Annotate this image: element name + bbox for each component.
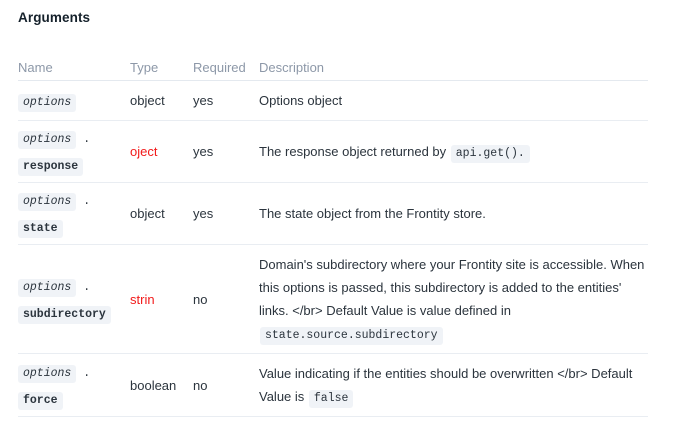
table-row: optionsobjectyesOptions object: [18, 81, 648, 121]
cell-type: object: [130, 90, 193, 111]
required-value: yes: [193, 206, 213, 221]
cell-description: Options object: [259, 81, 648, 120]
code-chip-param-base: options: [18, 279, 76, 297]
cell-name: options .subdirectory: [18, 269, 130, 330]
code-chip-param-property: state: [18, 220, 63, 238]
required-value: yes: [193, 144, 213, 159]
code-chip-inline: api.get().: [451, 145, 530, 163]
description-text: The state object from the Frontity store…: [259, 194, 648, 233]
param-dot-separator: .: [76, 281, 90, 294]
code-chip-param-base: options: [18, 131, 76, 149]
cell-name: options .state: [18, 183, 130, 244]
cell-type: strin: [130, 289, 193, 310]
cell-description: Value indicating if the entities should …: [259, 354, 648, 416]
type-value-error: oject: [130, 144, 157, 159]
cell-type: object: [130, 203, 193, 224]
required-value: no: [193, 378, 207, 393]
param-dot-separator: .: [76, 133, 90, 146]
arguments-table: Name Type Required Description optionsob…: [18, 55, 648, 417]
column-header-required: Required: [193, 60, 259, 75]
cell-required: no: [193, 375, 259, 396]
required-value: yes: [193, 93, 213, 108]
type-value: boolean: [130, 378, 176, 393]
cell-description: The response object returned by api.get(…: [259, 132, 648, 171]
arguments-panel: Arguments Name Type Required Description…: [0, 0, 690, 434]
param-dot-separator: .: [76, 195, 90, 208]
code-chip-param-base: options: [18, 94, 76, 112]
column-header-description: Description: [259, 60, 648, 75]
table-row: options .subdirectorystrinnoDomain's sub…: [18, 245, 648, 354]
table-row: options .stateobjectyesThe state object …: [18, 183, 648, 245]
description-text: Options object: [259, 81, 648, 120]
cell-name: options: [18, 84, 130, 118]
table-body: optionsobjectyesOptions objectoptions .r…: [18, 81, 648, 417]
code-chip-param-property: subdirectory: [18, 306, 111, 324]
column-header-name: Name: [18, 60, 130, 75]
description-text: The response object returned by api.get(…: [259, 132, 648, 171]
cell-name: options .force: [18, 355, 130, 416]
cell-required: yes: [193, 90, 259, 111]
description-text: Value indicating if the entities should …: [259, 354, 648, 416]
page-title: Arguments: [18, 10, 90, 25]
cell-description: Domain's subdirectory where your Frontit…: [259, 245, 648, 353]
cell-required: yes: [193, 203, 259, 224]
cell-type: oject: [130, 141, 193, 162]
cell-type: boolean: [130, 375, 193, 396]
cell-required: no: [193, 289, 259, 310]
table-row: options .responseojectyesThe response ob…: [18, 121, 648, 183]
cell-required: yes: [193, 141, 259, 162]
table-row: options .forcebooleannoValue indicating …: [18, 354, 648, 417]
table-header-row: Name Type Required Description: [18, 55, 648, 81]
required-value: no: [193, 292, 207, 307]
cell-name: options .response: [18, 121, 130, 182]
code-chip-param-base: options: [18, 193, 76, 211]
cell-description: The state object from the Frontity store…: [259, 194, 648, 233]
code-chip-param-property: force: [18, 392, 63, 410]
param-dot-separator: .: [76, 367, 90, 380]
type-value: object: [130, 206, 165, 221]
code-chip-inline: false: [309, 390, 354, 408]
type-value-error: strin: [130, 292, 155, 307]
code-chip-inline: state.source.subdirectory: [260, 327, 443, 345]
code-chip-param-property: response: [18, 158, 83, 176]
column-header-type: Type: [130, 60, 193, 75]
type-value: object: [130, 93, 165, 108]
code-chip-param-base: options: [18, 365, 76, 383]
description-text: Domain's subdirectory where your Frontit…: [259, 245, 648, 353]
